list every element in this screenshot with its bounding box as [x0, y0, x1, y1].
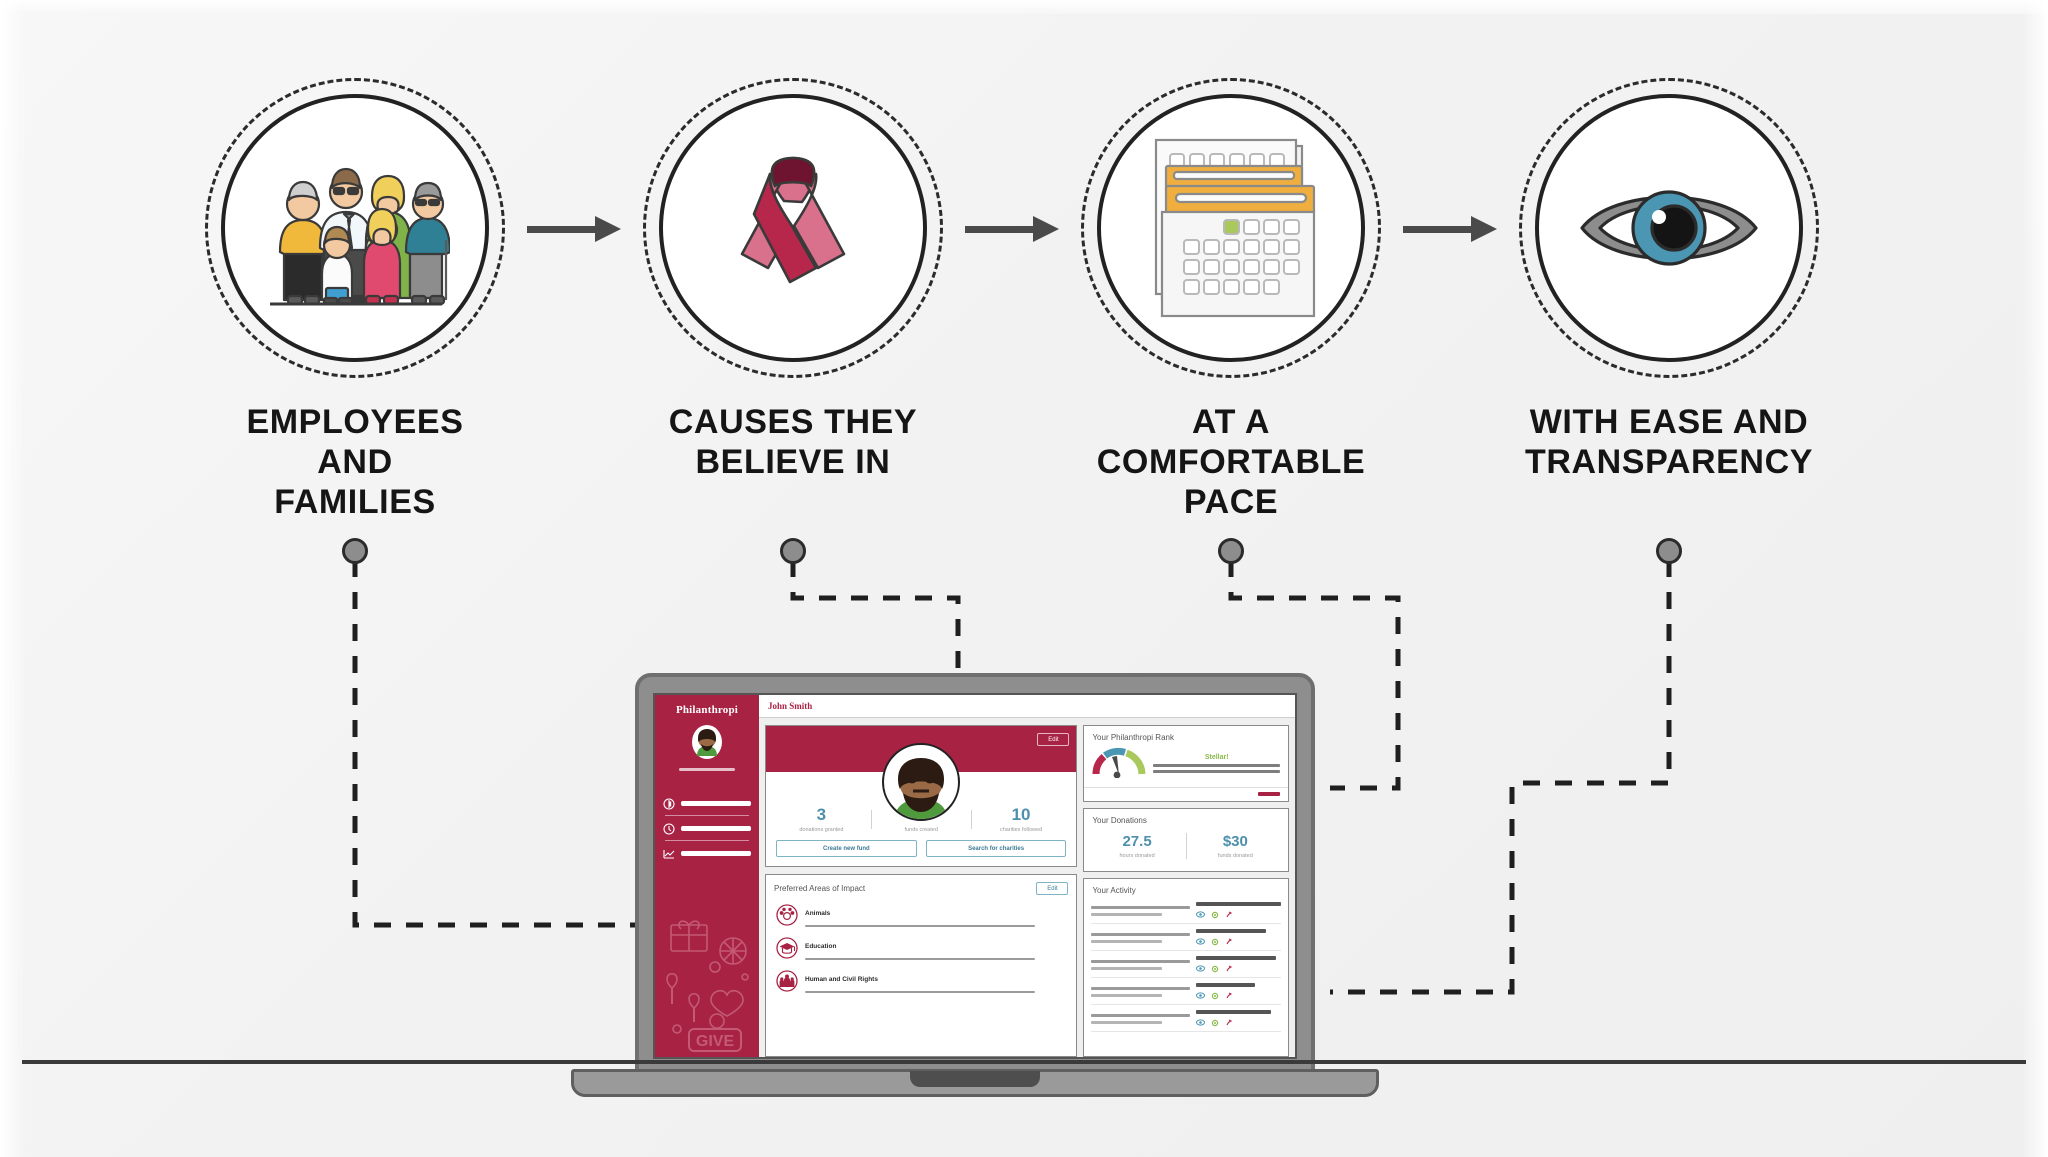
create-new-fund-button[interactable]: Create new fund	[776, 840, 917, 857]
activity-row-meta	[1196, 929, 1281, 946]
preferred-area-row[interactable]: Education	[766, 931, 1076, 964]
step-employees-and-families: EMPLOYEES AND FAMILIES	[205, 78, 505, 522]
activity-title: Your Activity	[1084, 879, 1288, 897]
step-at-a-comfortable-pace: AT A COMFORTABLE PACE	[1081, 78, 1381, 522]
step-label-line1: EMPLOYEES AND	[205, 402, 505, 482]
right-column: Your Philanthropi Rank	[1083, 725, 1289, 1057]
preferred-area-name: Education	[805, 943, 836, 950]
step-label-line2: TRANSPARENCY	[1519, 442, 1819, 482]
solid-ring	[1097, 94, 1365, 362]
clock-icon	[663, 822, 675, 834]
activity-row-meta	[1196, 983, 1281, 1000]
process-steps: EMPLOYEES AND FAMILIES	[0, 0, 2048, 520]
eye-icon	[1196, 965, 1205, 972]
preferred-areas-edit-button[interactable]: Edit	[1036, 882, 1068, 895]
app-columns: Edit	[759, 718, 1295, 1057]
share-icon	[1225, 1019, 1233, 1027]
app-brand: Philanthropi	[655, 704, 759, 716]
rank-chip	[1258, 792, 1280, 796]
connector-dot-2	[780, 538, 806, 564]
step-label-line2: FAMILIES	[205, 482, 505, 522]
activity-row-text	[1091, 906, 1189, 916]
share-icon	[1225, 992, 1233, 1000]
calendar-icon	[1136, 128, 1326, 328]
profile-avatar	[882, 743, 960, 821]
step-label-line1: CAUSES THEY	[643, 402, 943, 442]
sidebar-divider	[665, 815, 749, 816]
step-label: EMPLOYEES AND FAMILIES	[205, 402, 505, 522]
rank-title: Your Philanthropi Rank	[1084, 726, 1288, 744]
activity-row-text	[1091, 987, 1189, 997]
activity-row-meta	[1196, 956, 1281, 973]
rank-gauge	[1092, 744, 1146, 783]
stat-label: funds created	[872, 827, 971, 833]
connector-dot-3	[1218, 538, 1244, 564]
eye-icon	[1574, 173, 1764, 283]
step-label: CAUSES THEY BELIEVE IN	[643, 402, 943, 482]
donation-item: 27.5 hours donated	[1088, 834, 1185, 859]
activity-list	[1084, 897, 1288, 1056]
solid-ring	[221, 94, 489, 362]
preferred-areas-header: Preferred Areas of Impact Edit	[766, 875, 1076, 898]
donations-card: Your Donations 27.5 hours donated $30	[1083, 808, 1289, 872]
sidebar-item-history[interactable]	[663, 822, 751, 834]
eye-icon	[1196, 1019, 1205, 1026]
sidebar-username-placeholder	[679, 768, 735, 771]
donations-values: 27.5 hours donated $30 funds donated	[1084, 827, 1288, 871]
donate-icon	[663, 797, 675, 809]
step-causes-they-believe-in: CAUSES THEY BELIEVE IN	[643, 78, 943, 482]
sidebar-item-donate[interactable]	[663, 797, 751, 809]
education-icon	[776, 937, 798, 959]
step-label: WITH EASE AND TRANSPARENCY	[1519, 402, 1819, 482]
arrow-3	[1403, 222, 1499, 236]
preferred-area-name: Human and Civil Rights	[805, 976, 878, 983]
activity-row[interactable]	[1091, 978, 1281, 1005]
eye-icon	[1196, 938, 1205, 945]
activity-row[interactable]	[1091, 1005, 1281, 1032]
activity-row-text	[1091, 1014, 1189, 1024]
rank-body: Stellar!	[1084, 744, 1288, 787]
donation-label: hours donated	[1088, 853, 1185, 859]
gear-icon	[1211, 938, 1219, 946]
laptop-mockup: Philanthropi	[617, 673, 1333, 1093]
donation-label: funds donated	[1187, 853, 1284, 859]
sidebar-item-reports[interactable]	[663, 847, 751, 859]
step-label-line2: BELIEVE IN	[643, 442, 943, 482]
human-rights-icon	[776, 970, 798, 992]
step-label-line2: PACE	[1081, 482, 1381, 522]
activity-row-meta	[1196, 1010, 1281, 1027]
step-circle	[205, 78, 505, 378]
connector-dot-4	[1656, 538, 1682, 564]
topbar-username: John Smith	[768, 701, 812, 711]
app-topbar: John Smith	[759, 695, 1295, 718]
connector-transparency-to-activity-panel	[1330, 560, 1669, 992]
stat-value: 10	[972, 806, 1071, 823]
solid-ring	[1535, 94, 1803, 362]
arrow-1	[527, 222, 623, 236]
sidebar-give-artwork: GIVE	[655, 917, 759, 1057]
step-label-line1: WITH EASE AND	[1519, 402, 1819, 442]
profile-card: Edit	[765, 725, 1077, 867]
rank-card: Your Philanthropi Rank	[1083, 725, 1289, 802]
preferred-areas-title: Preferred Areas of Impact	[774, 884, 865, 893]
share-icon	[1225, 938, 1233, 946]
gear-icon	[1211, 965, 1219, 973]
step-label: AT A COMFORTABLE PACE	[1081, 402, 1381, 522]
give-label: GIVE	[696, 1033, 735, 1050]
donation-item: $30 funds donated	[1187, 834, 1284, 859]
animals-icon	[776, 904, 798, 926]
gear-icon	[1211, 911, 1219, 919]
laptop-notch	[910, 1071, 1040, 1087]
activity-card: Your Activity	[1083, 878, 1289, 1057]
preferred-area-row[interactable]: Animals	[766, 898, 1076, 931]
slide-canvas: EMPLOYEES AND FAMILIES	[0, 0, 2048, 1157]
eye-icon	[1196, 911, 1205, 918]
rank-footer	[1084, 787, 1288, 801]
arrow-2	[965, 222, 1061, 236]
activity-row[interactable]	[1091, 897, 1281, 924]
connector-causes-to-screen-top	[793, 560, 958, 673]
sidebar-nav	[655, 797, 759, 859]
gear-icon	[1211, 1019, 1219, 1027]
preferred-area-row[interactable]: Human and Civil Rights	[766, 964, 1076, 997]
preferred-area-name: Animals	[805, 910, 830, 917]
step-circle	[1519, 78, 1819, 378]
stat-item: 3 donations granted	[772, 806, 871, 833]
awareness-ribbon-icon	[708, 138, 878, 318]
share-icon	[1225, 911, 1233, 919]
left-column: Edit	[765, 725, 1077, 1057]
connector-dot-1	[342, 538, 368, 564]
activity-row-text	[1091, 933, 1189, 943]
sidebar-avatar	[692, 725, 722, 759]
activity-row[interactable]	[1091, 924, 1281, 951]
profile-actions: Create new fund Search for charities	[766, 840, 1076, 866]
desk-line	[22, 1060, 2026, 1064]
eye-icon	[1196, 992, 1205, 999]
donation-value: 27.5	[1088, 834, 1185, 849]
donation-value: $30	[1187, 834, 1284, 849]
step-with-ease-and-transparency: WITH EASE AND TRANSPARENCY	[1519, 78, 1819, 482]
search-for-charities-button[interactable]: Search for charities	[926, 840, 1067, 857]
sidebar-divider	[665, 840, 749, 841]
profile-edit-button[interactable]: Edit	[1037, 733, 1069, 746]
family-group-icon	[260, 148, 450, 308]
step-circle	[1081, 78, 1381, 378]
app-main: John Smith Edit	[759, 695, 1295, 1057]
share-icon	[1225, 965, 1233, 973]
stat-label: donations granted	[772, 827, 871, 833]
solid-ring	[659, 94, 927, 362]
step-circle	[643, 78, 943, 378]
activity-row[interactable]	[1091, 951, 1281, 978]
gear-icon	[1211, 992, 1219, 1000]
activity-row-text	[1091, 960, 1189, 970]
rank-badge: Stellar!	[1153, 754, 1280, 761]
donations-title: Your Donations	[1084, 809, 1288, 827]
activity-row-meta	[1196, 902, 1281, 919]
step-label-line1: AT A COMFORTABLE	[1081, 402, 1381, 482]
stat-item: 10 charities followed	[972, 806, 1071, 833]
stat-value: 3	[772, 806, 871, 823]
preferred-areas-card: Preferred Areas of Impact Edit	[765, 874, 1077, 1057]
laptop-lid: Philanthropi	[635, 673, 1315, 1073]
app-sidebar: Philanthropi	[655, 695, 759, 1057]
laptop-screen: Philanthropi	[653, 693, 1297, 1059]
chart-icon	[663, 847, 675, 859]
stat-label: charities followed	[972, 827, 1071, 833]
